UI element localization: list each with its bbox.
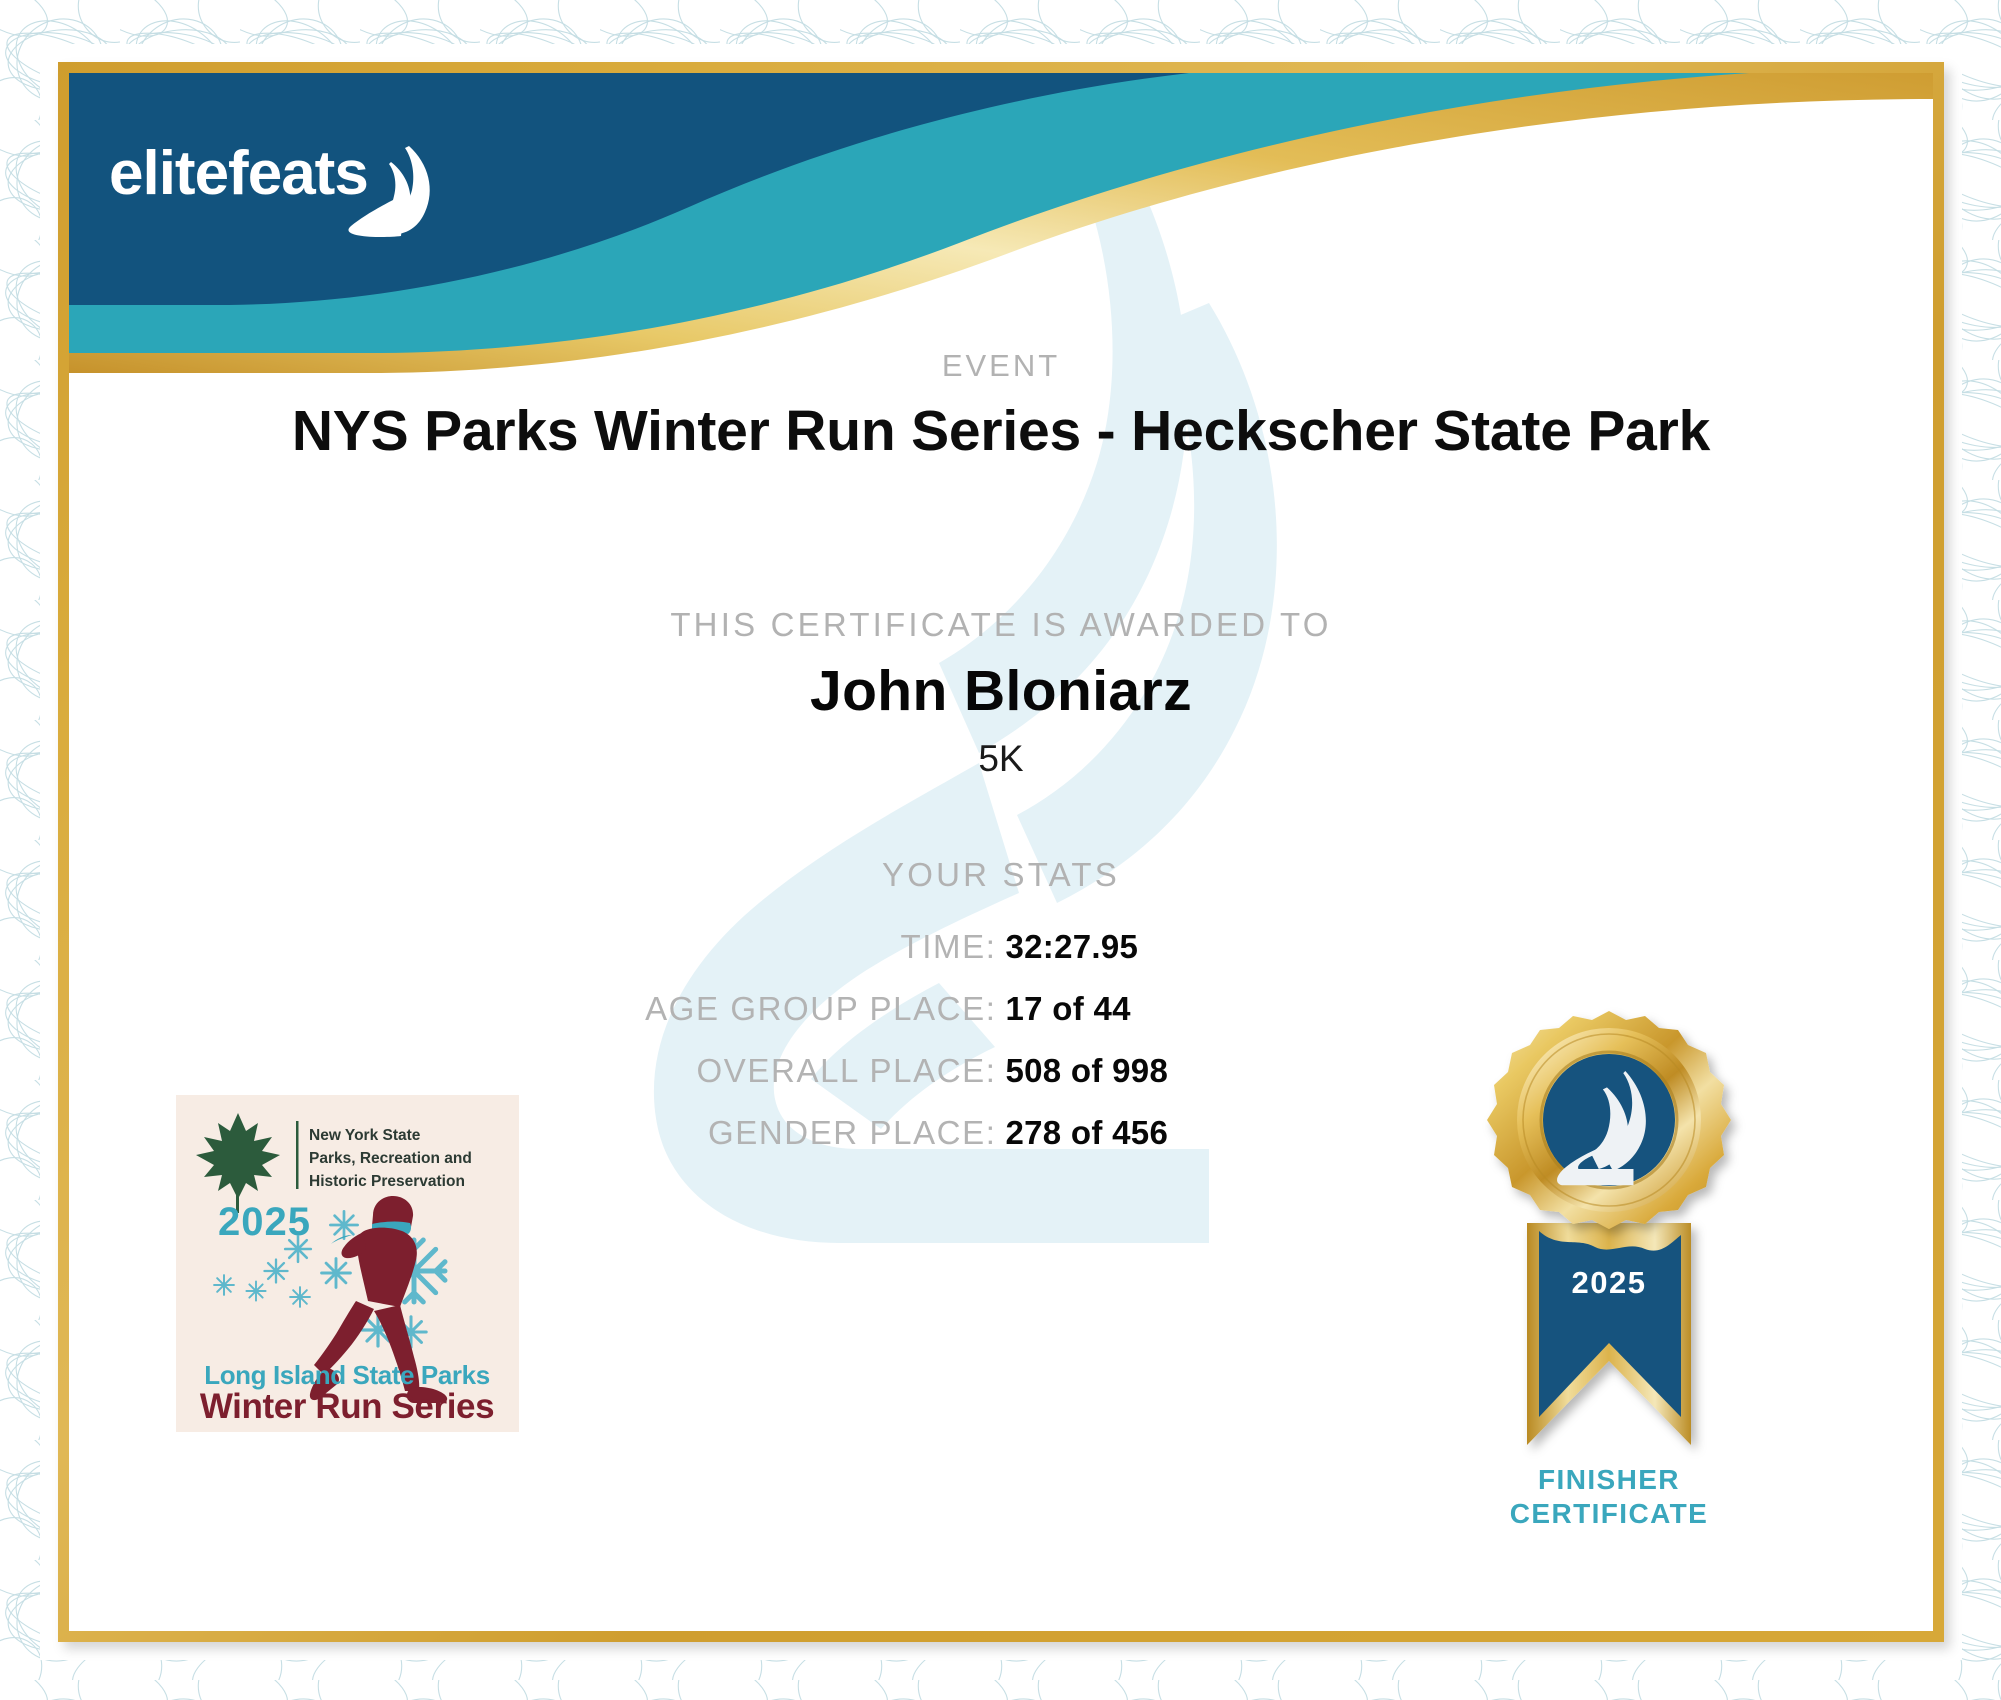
- event-label: EVENT: [69, 348, 1933, 384]
- recipient-name: John Bloniarz: [69, 658, 1933, 724]
- svg-text:New York State: New York State: [309, 1127, 421, 1144]
- finisher-caption-line-1: FINISHER: [1449, 1463, 1769, 1497]
- finisher-medal-badge: 2025: [1449, 993, 1769, 1493]
- stat-label-overall-place: OVERALL PLACE:: [477, 1052, 1006, 1090]
- svg-text:Historic Preservation: Historic Preservation: [309, 1173, 465, 1190]
- svg-text:Long Island State Parks: Long Island State Parks: [204, 1360, 490, 1390]
- medal-ribbon-year: 2025: [1572, 1265, 1647, 1300]
- finisher-caption-line-2: CERTIFICATE: [1449, 1497, 1769, 1531]
- elitefeats-brand-logo: elitefeats: [109, 128, 469, 238]
- svg-text:elitefeats: elitefeats: [109, 139, 368, 208]
- stat-value-gender-place: 278 of 456: [1006, 1114, 1526, 1152]
- certificate-inner-body: elitefeats EVENT NYS Parks Winter Run Se…: [69, 73, 1933, 1631]
- certificate-page: elitefeats EVENT NYS Parks Winter Run Se…: [0, 0, 2001, 1700]
- certificate-gold-border: elitefeats EVENT NYS Parks Winter Run Se…: [58, 62, 1944, 1642]
- svg-text:Winter Run Series: Winter Run Series: [200, 1387, 494, 1426]
- stat-label-gender-place: GENDER PLACE:: [477, 1114, 1006, 1152]
- stat-value-age-group-place: 17 of 44: [1006, 990, 1526, 1028]
- finisher-caption: FINISHER CERTIFICATE: [1449, 1463, 1769, 1531]
- awarded-to-label: THIS CERTIFICATE IS AWARDED TO: [69, 606, 1933, 644]
- stat-label-time: TIME:: [477, 928, 1006, 966]
- stat-value-overall-place: 508 of 998: [1006, 1052, 1526, 1090]
- svg-text:Parks, Recreation and: Parks, Recreation and: [309, 1150, 472, 1167]
- race-distance: 5K: [69, 738, 1933, 780]
- stat-value-time: 32:27.95: [1006, 928, 1526, 966]
- stat-row-time: TIME: 32:27.95: [69, 928, 1933, 990]
- stat-label-age-group-place: AGE GROUP PLACE:: [477, 990, 1006, 1028]
- your-stats-label: YOUR STATS: [69, 856, 1933, 894]
- event-name: NYS Parks Winter Run Series - Heckscher …: [69, 398, 1933, 464]
- winter-run-series-logo: New York State Parks, Recreation and His…: [176, 1095, 519, 1432]
